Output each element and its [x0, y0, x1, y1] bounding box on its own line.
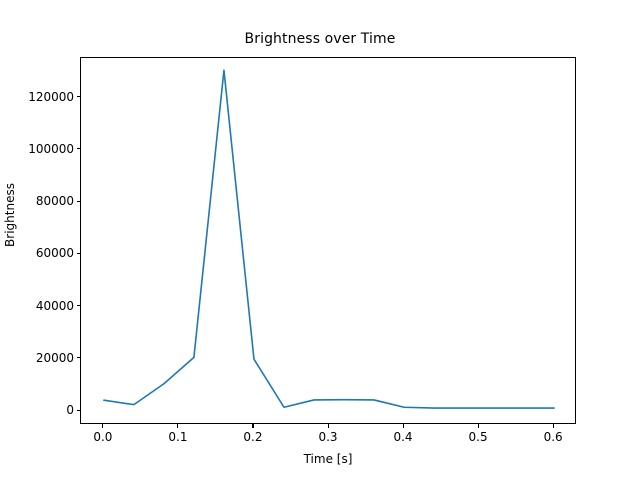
x-tick-label: 0.5: [469, 430, 488, 444]
x-tick-label: 0.1: [168, 430, 187, 444]
x-tick-mark: [252, 424, 253, 428]
x-tick-mark: [403, 424, 404, 428]
x-tick-mark: [478, 424, 479, 428]
y-axis-tick-labels: 020000400006000080000100000120000: [0, 0, 74, 480]
x-axis-label: Time [s]: [80, 452, 576, 466]
x-tick-label: 0.3: [318, 430, 337, 444]
x-tick-mark: [177, 424, 178, 428]
y-tick-label: 0: [66, 403, 74, 417]
y-tick-label: 20000: [36, 351, 74, 365]
x-tick-mark: [102, 424, 103, 428]
brightness-line-series: [104, 70, 554, 408]
matplotlib-figure: Brightness over Time Brightness 02000040…: [0, 0, 640, 480]
y-tick-label: 40000: [36, 299, 74, 313]
plot-area: [80, 57, 576, 424]
y-tick-label: 80000: [36, 194, 74, 208]
chart-title: Brightness over Time: [0, 31, 640, 47]
x-tick-mark: [328, 424, 329, 428]
x-tick-label: 0.0: [93, 430, 112, 444]
y-tick-label: 60000: [36, 246, 74, 260]
x-tick-mark: [553, 424, 554, 428]
y-tick-label: 100000: [28, 142, 74, 156]
x-tick-label: 0.6: [544, 430, 563, 444]
x-tick-label: 0.4: [393, 430, 412, 444]
line-series-svg: [81, 58, 575, 423]
y-tick-label: 120000: [28, 90, 74, 104]
x-tick-label: 0.2: [243, 430, 262, 444]
